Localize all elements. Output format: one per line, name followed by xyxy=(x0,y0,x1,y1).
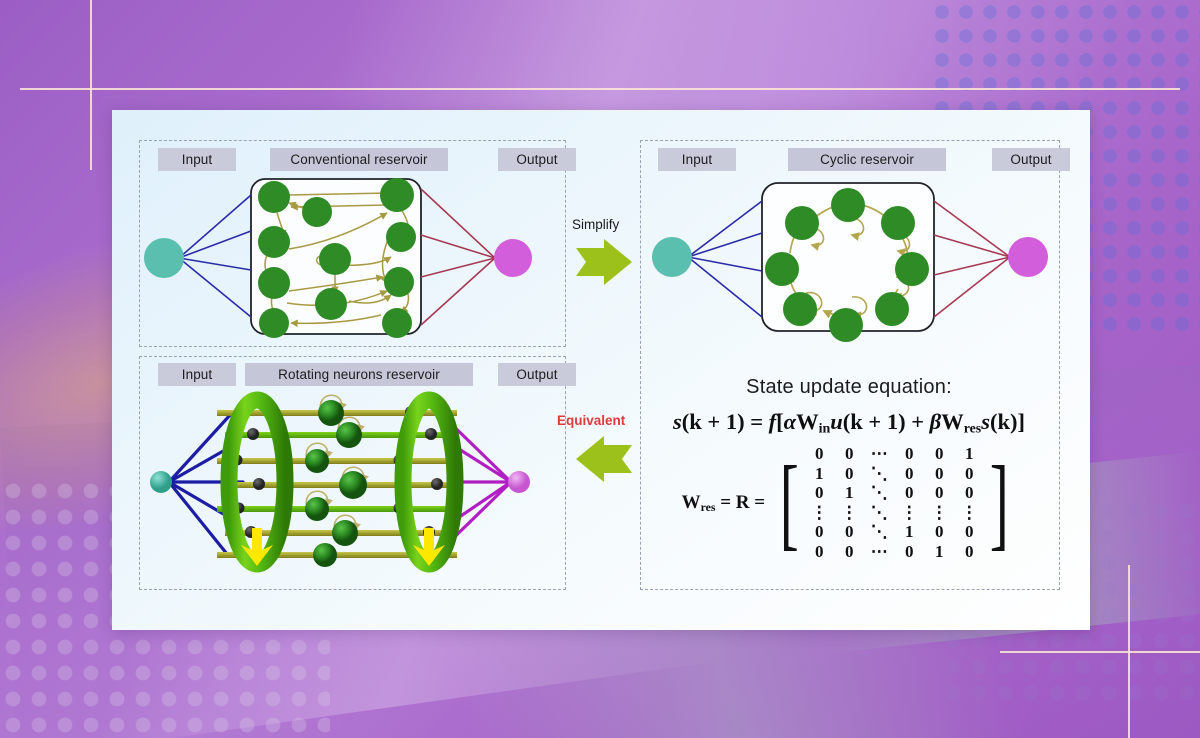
eq-s2: s xyxy=(981,409,990,434)
diagram-slide: Input Conventional reservoir Output xyxy=(112,110,1090,630)
eq-w-in: W xyxy=(796,409,819,434)
reservoir-matrix: 00⋯00110⋱00001⋱000⋮⋮⋱⋮⋮⋮00⋱10000⋯010 xyxy=(807,445,982,561)
matrix-label-equals-2: = xyxy=(754,492,765,513)
eq-open-bracket: [ xyxy=(776,409,784,434)
eq-w-in-subscript: in xyxy=(819,421,831,436)
equation-title: State update equation: xyxy=(746,376,952,399)
cyclic-output-edges xyxy=(934,201,1010,317)
matrix-cell-1-5: 0 xyxy=(961,465,978,484)
matrix-cell-3-0: ⋮ xyxy=(811,504,828,523)
matrix-cell-4-0: 0 xyxy=(811,523,828,542)
cyclic-input-edges xyxy=(688,201,762,317)
matrix-cell-0-4: 0 xyxy=(931,445,948,464)
rotating-input-node xyxy=(150,471,172,493)
matrix-cell-4-5: 0 xyxy=(961,523,978,542)
eq-alpha: α xyxy=(784,409,796,434)
matrix-cell-1-2: ⋱ xyxy=(871,465,888,484)
rotating-output-node xyxy=(508,471,530,493)
reservoir-matrix-row: Wres = R = [ 00⋯00110⋱00001⋱000⋮⋮⋱⋮⋮⋮00⋱… xyxy=(682,445,1017,561)
matrix-cell-1-4: 0 xyxy=(931,465,948,484)
matrix-cell-0-2: ⋯ xyxy=(871,445,888,464)
state-update-equation: s(k + 1) = f[αWinu(k + 1) + βWress(k)] xyxy=(673,409,1025,437)
equivalent-arrow-label: Equivalent xyxy=(557,413,625,428)
eq-beta: β xyxy=(930,409,942,434)
crosshair-top-left-horizontal xyxy=(20,88,1180,90)
state-update-equation-block: State update equation: s(k + 1) = f[αWin… xyxy=(640,360,1058,588)
crosshair-bottom-right-horizontal xyxy=(1000,651,1200,653)
conventional-input-edges xyxy=(179,195,251,317)
matrix-cell-4-3: 1 xyxy=(901,523,918,542)
simplify-arrow-label: Simplify xyxy=(572,217,619,232)
matrix-cell-1-3: 0 xyxy=(901,465,918,484)
eq-close-bracket: ] xyxy=(1018,409,1026,434)
matrix-cell-5-1: 0 xyxy=(841,543,858,562)
conventional-reservoir-graph xyxy=(139,165,564,345)
matrix-cell-5-4: 1 xyxy=(931,543,948,562)
conventional-input-node xyxy=(144,238,184,278)
eq-lhs-arg: (k + 1) xyxy=(682,409,745,434)
matrix-cell-3-4: ⋮ xyxy=(931,504,948,523)
eq-lhs-s: s xyxy=(673,409,682,434)
crosshair-top-left-vertical xyxy=(90,0,92,170)
matrix-label-w: W xyxy=(682,492,701,513)
matrix-cell-0-1: 0 xyxy=(841,445,858,464)
eq-s2-arg: (k) xyxy=(990,409,1018,434)
matrix-cell-2-5: 0 xyxy=(961,484,978,503)
matrix-cell-2-2: ⋱ xyxy=(871,484,888,503)
matrix-cell-2-0: 0 xyxy=(811,484,828,503)
matrix-cell-3-5: ⋮ xyxy=(961,504,978,523)
matrix-cell-0-5: 1 xyxy=(961,445,978,464)
matrix-cell-5-5: 0 xyxy=(961,543,978,562)
eq-equals: = xyxy=(750,409,763,434)
eq-w-res: W xyxy=(941,409,964,434)
matrix-cell-3-1: ⋮ xyxy=(841,504,858,523)
conventional-output-edges xyxy=(421,189,495,325)
matrix-label-equals-1: = xyxy=(720,492,731,513)
rotating-neurons-3d-graph xyxy=(139,382,564,582)
matrix-cell-3-2: ⋱ xyxy=(871,504,888,523)
eq-u: u xyxy=(830,409,843,434)
matrix-cell-3-3: ⋮ xyxy=(901,504,918,523)
matrix-cell-4-4: 0 xyxy=(931,523,948,542)
eq-u-arg: (k + 1) xyxy=(843,409,906,434)
matrix-label: Wres = R = xyxy=(682,492,765,515)
matrix-cell-4-2: ⋱ xyxy=(871,523,888,542)
cyclic-reservoir-graph xyxy=(640,165,1058,350)
matrix-label-w-subscript: res xyxy=(701,501,716,514)
matrix-cell-5-3: 0 xyxy=(901,543,918,562)
eq-w-res-subscript: res xyxy=(964,421,982,436)
cyclic-input-node xyxy=(652,237,692,277)
matrix-cell-5-2: ⋯ xyxy=(871,543,888,562)
matrix-cell-2-3: 0 xyxy=(901,484,918,503)
matrix-cell-4-1: 0 xyxy=(841,523,858,542)
matrix-cell-0-0: 0 xyxy=(811,445,828,464)
matrix-cell-1-0: 1 xyxy=(811,465,828,484)
equivalent-arrow-icon xyxy=(572,435,634,483)
matrix-cell-0-3: 0 xyxy=(901,445,918,464)
conventional-output-node xyxy=(494,239,532,277)
simplify-arrow-icon xyxy=(574,238,636,286)
matrix-cell-5-0: 0 xyxy=(811,543,828,562)
matrix-cell-2-4: 0 xyxy=(931,484,948,503)
eq-plus: + xyxy=(911,409,924,434)
cyclic-output-node xyxy=(1008,237,1048,277)
matrix-label-r: R xyxy=(736,492,750,513)
matrix-cell-1-1: 0 xyxy=(841,465,858,484)
matrix-cell-2-1: 1 xyxy=(841,484,858,503)
